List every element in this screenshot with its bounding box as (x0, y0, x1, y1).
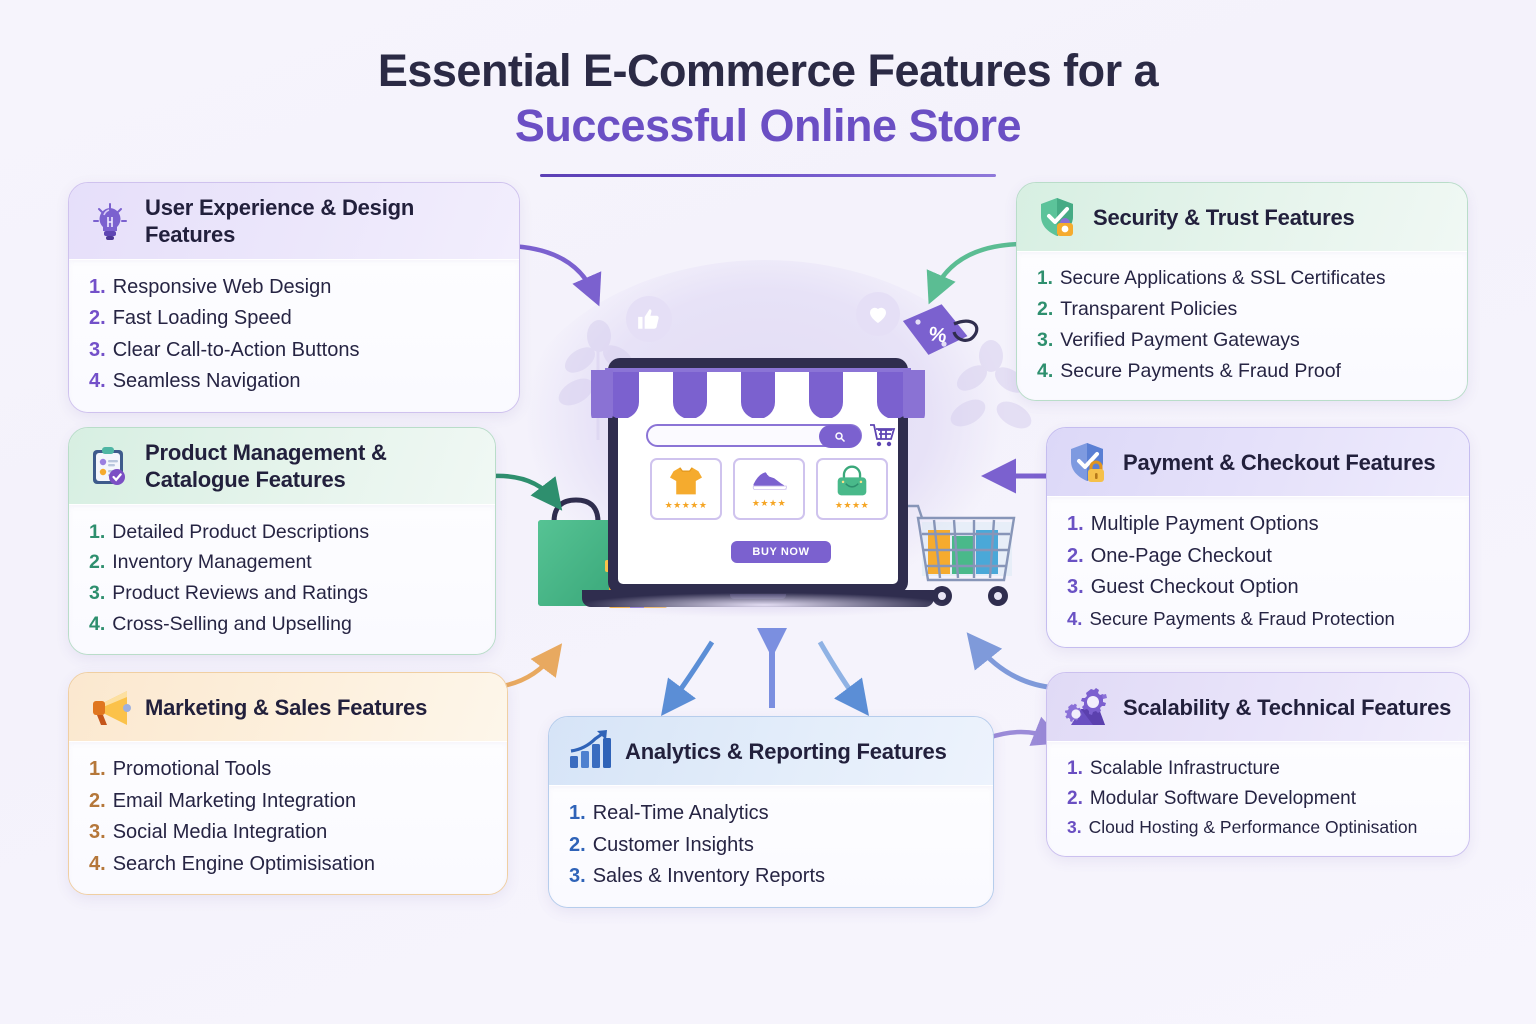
card-payment-checkout[interactable]: Payment & Checkout Features 1.Multiple P… (1046, 427, 1470, 648)
list-item: 3.Verified Payment Gateways (1037, 325, 1451, 356)
title-line-2: Successful Online Store (0, 99, 1536, 154)
sneaker-icon (750, 465, 788, 495)
item-label: Secure Payments & Fraud Proof (1060, 356, 1341, 387)
illustration-ground-shadow (508, 588, 1020, 622)
thumbs-up-icon (626, 296, 672, 342)
card-analytics-reporting[interactable]: Analytics & Reporting Features 1.Real-Ti… (548, 716, 994, 908)
shield-lock-icon (1065, 440, 1111, 486)
item-number: 3. (89, 578, 105, 609)
cart-icon[interactable] (868, 422, 896, 448)
item-label: Social Media Integration (113, 817, 328, 849)
item-number: 2. (569, 830, 586, 862)
list-item: 2.Email Marketing Integration (89, 786, 491, 818)
item-label: Secure Applications & SSL Certificates (1060, 264, 1386, 294)
card-body: 1.Responsive Web Design 2.Fast Loading S… (69, 259, 519, 412)
item-number: 2. (89, 303, 106, 335)
item-number: 3. (569, 861, 586, 893)
card-body: 1.Real-Time Analytics 2.Customer Insight… (549, 785, 993, 907)
title-line-1: Essential E-Commerce Features for a (0, 44, 1536, 99)
product-card-handbag[interactable]: ★★★★ (816, 458, 888, 520)
item-number: 1. (89, 754, 106, 786)
item-label: One-Page Checkout (1091, 541, 1272, 573)
item-label: Search Engine Optimisisation (113, 849, 375, 881)
page-title: Essential E-Commerce Features for a Succ… (0, 44, 1536, 154)
item-number: 4. (89, 609, 105, 640)
item-number: 3. (89, 817, 106, 849)
card-title: User Experience & Design Features (145, 195, 503, 249)
list-item: 2.Customer Insights (569, 830, 977, 862)
item-number: 2. (89, 547, 105, 578)
card-body: 1.Scalable Infrastructure 2.Modular Soft… (1047, 741, 1469, 856)
card-header: Analytics & Reporting Features (549, 717, 993, 785)
list-item: 1.Promotional Tools (89, 754, 491, 786)
item-number: 1. (1067, 509, 1084, 541)
list-item: 4.Search Engine Optimisisation (89, 849, 491, 881)
bar-chart-growth-icon (567, 729, 613, 775)
card-header: User Experience & Design Features (69, 183, 519, 259)
card-body: 1.Detailed Product Descriptions 2.Invent… (69, 504, 495, 654)
list-item: 1.Real-Time Analytics (569, 798, 977, 830)
item-label: Fast Loading Speed (113, 303, 292, 335)
item-label: Inventory Management (112, 547, 311, 578)
item-label: Scalable Infrastructure (1090, 754, 1280, 784)
rating-stars: ★★★★★ (665, 500, 708, 511)
card-header: Scalability & Technical Features (1047, 673, 1469, 741)
rating-stars: ★★★★ (835, 500, 869, 511)
price-tag: % (898, 300, 986, 374)
list-item: 2.Modular Software Development (1067, 784, 1453, 814)
store-awning (591, 368, 925, 418)
list-item: 2.Fast Loading Speed (89, 303, 503, 335)
title-divider (540, 174, 996, 177)
card-header: Payment & Checkout Features (1047, 428, 1469, 496)
item-label: Responsive Web Design (113, 272, 332, 304)
item-number: 4. (1067, 604, 1082, 633)
item-label: Real-Time Analytics (593, 798, 769, 830)
item-label: Customer Insights (593, 830, 754, 862)
item-label: Email Marketing Integration (113, 786, 356, 818)
card-body: 1.Promotional Tools 2.Email Marketing In… (69, 741, 507, 894)
card-header: Security & Trust Features (1017, 183, 1467, 251)
list-item: 3.Cloud Hosting & Performance Optinisati… (1067, 814, 1453, 842)
item-label: Secure Payments & Fraud Protection (1089, 604, 1394, 633)
item-number: 2. (1037, 294, 1053, 325)
list-item: 3.Clear Call-to-Action Buttons (89, 335, 503, 367)
card-product-management[interactable]: Product Management & Catalogue Features … (68, 427, 496, 655)
item-number: 3. (1037, 325, 1053, 356)
item-label: Clear Call-to-Action Buttons (113, 335, 360, 367)
card-scalability-technical[interactable]: Scalability & Technical Features 1.Scala… (1046, 672, 1470, 857)
list-item: 4.Secure Payments & Fraud Protection (1067, 604, 1453, 633)
list-item: 3.Product Reviews and Ratings (89, 578, 479, 609)
item-label: Modular Software Development (1090, 784, 1356, 814)
item-number: 3. (1067, 572, 1084, 604)
arrow-analytics-center-up (656, 628, 976, 724)
list-item: 4.Seamless Navigation (89, 366, 503, 398)
item-number: 2. (1067, 784, 1083, 814)
item-label: Detailed Product Descriptions (112, 517, 369, 548)
card-marketing-sales[interactable]: Marketing & Sales Features 1.Promotional… (68, 672, 508, 895)
list-item: 3.Sales & Inventory Reports (569, 861, 977, 893)
handbag-icon (835, 465, 869, 497)
card-title: Scalability & Technical Features (1123, 695, 1451, 722)
list-item: 3.Social Media Integration (89, 817, 491, 849)
card-header: Product Management & Catalogue Features (69, 428, 495, 504)
item-label: Product Reviews and Ratings (112, 578, 368, 609)
card-title: Payment & Checkout Features (1123, 450, 1435, 477)
list-item: 1.Secure Applications & SSL Certificates (1037, 264, 1451, 294)
heart-icon (856, 292, 900, 336)
list-item: 2.One-Page Checkout (1067, 541, 1453, 573)
item-label: Multiple Payment Options (1091, 509, 1319, 541)
tshirt-icon (668, 465, 704, 497)
list-item: 1.Scalable Infrastructure (1067, 754, 1453, 784)
item-label: Transparent Policies (1060, 294, 1237, 325)
item-number: 4. (89, 366, 106, 398)
item-number: 3. (1067, 814, 1082, 842)
clipboard-check-icon (87, 444, 133, 490)
product-card-tshirt[interactable]: ★★★★★ (650, 458, 722, 520)
list-item: 1.Multiple Payment Options (1067, 509, 1453, 541)
card-title: Product Management & Catalogue Features (145, 440, 479, 494)
list-item: 3.Guest Checkout Option (1067, 572, 1453, 604)
list-item: 2.Inventory Management (89, 547, 479, 578)
item-number: 4. (1037, 356, 1053, 387)
item-number: 1. (89, 517, 105, 548)
list-item: 1.Responsive Web Design (89, 272, 503, 304)
lightbulb-icon (87, 199, 133, 245)
item-number: 1. (89, 272, 106, 304)
list-item: 4.Secure Payments & Fraud Proof (1037, 356, 1451, 387)
list-item: 1.Detailed Product Descriptions (89, 517, 479, 548)
card-title: Marketing & Sales Features (145, 695, 427, 722)
search-input[interactable] (646, 424, 862, 447)
card-title: Analytics & Reporting Features (625, 739, 947, 766)
shield-check-lock-icon (1035, 195, 1081, 241)
item-number: 2. (89, 786, 106, 818)
item-number: 1. (1067, 754, 1083, 784)
item-label: Cross-Selling and Upselling (112, 609, 352, 640)
item-number: 1. (569, 798, 586, 830)
card-security-trust[interactable]: Security & Trust Features 1.Secure Appli… (1016, 182, 1468, 401)
card-body: 1.Secure Applications & SSL Certificates… (1017, 251, 1467, 400)
search-icon[interactable] (819, 425, 861, 448)
item-label: Seamless Navigation (113, 366, 301, 398)
item-label: Promotional Tools (113, 754, 272, 786)
infographic-canvas: Essential E-Commerce Features for a Succ… (0, 0, 1536, 1024)
card-user-experience[interactable]: User Experience & Design Features 1.Resp… (68, 182, 520, 413)
card-header: Marketing & Sales Features (69, 673, 507, 741)
item-number: 1. (1037, 264, 1053, 294)
item-number: 4. (89, 849, 106, 881)
item-label: Guest Checkout Option (1091, 572, 1299, 604)
item-label: Verified Payment Gateways (1060, 325, 1300, 356)
item-label: Cloud Hosting & Performance Optinisation (1089, 814, 1418, 842)
item-number: 2. (1067, 541, 1084, 573)
card-body: 1.Multiple Payment Options 2.One-Page Ch… (1047, 496, 1469, 647)
buy-now-button[interactable]: BUY NOW (731, 541, 831, 563)
card-title: Security & Trust Features (1093, 205, 1355, 232)
megaphone-icon (87, 685, 133, 731)
rating-stars: ★★★★ (752, 498, 786, 509)
list-item: 4.Cross-Selling and Upselling (89, 609, 479, 640)
list-item: 2.Transparent Policies (1037, 294, 1451, 325)
product-card-sneaker[interactable]: ★★★★ (733, 458, 805, 520)
item-number: 3. (89, 335, 106, 367)
gears-icon (1065, 685, 1111, 731)
item-label: Sales & Inventory Reports (593, 861, 825, 893)
